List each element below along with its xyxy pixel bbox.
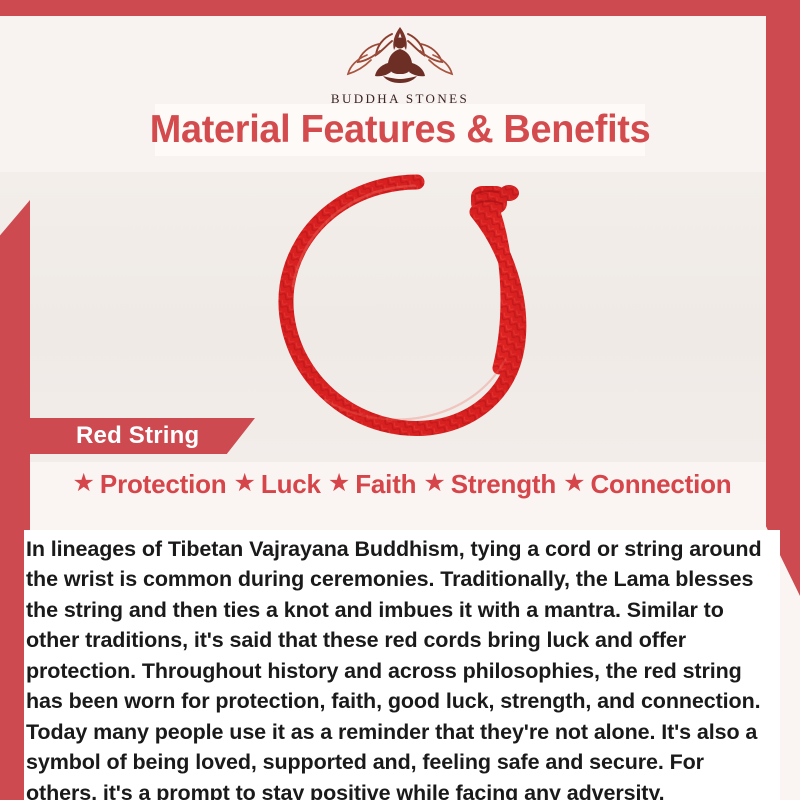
product-name-ribbon: Red String [20,418,255,454]
star-icon: ★ [563,471,585,496]
star-icon: ★ [423,471,445,496]
benefit-item-protection: ★ Protection [73,469,227,500]
benefit-label: Strength [451,469,556,500]
benefit-item-luck: ★ Luck [234,469,321,500]
infographic-page: BUDDHA STONES Material Features & Benefi… [0,0,800,800]
benefit-item-connection: ★ Connection [563,469,731,500]
benefit-label: Faith [355,469,416,500]
benefit-label: Luck [261,469,321,500]
product-name-label: Red String [76,422,199,450]
benefit-label: Protection [100,469,227,500]
top-accent-strip [0,0,800,16]
lotus-meditation-icon [0,18,800,89]
benefits-row: ★ Protection ★ Luck ★ Faith ★ Strength ★… [24,463,780,505]
star-icon: ★ [73,471,95,496]
benefit-item-faith: ★ Faith [328,469,417,500]
star-icon: ★ [234,471,256,496]
brand-logo: BUDDHA STONES [0,16,800,107]
benefit-item-strength: ★ Strength [423,469,556,500]
title-banner: Material Features & Benefits [155,104,645,156]
page-title: Material Features & Benefits [150,108,651,152]
description-paragraph: In lineages of Tibetan Vajrayana Buddhis… [24,530,780,800]
product-image [255,160,565,460]
star-icon: ★ [328,471,350,496]
benefit-label: Connection [590,469,731,500]
